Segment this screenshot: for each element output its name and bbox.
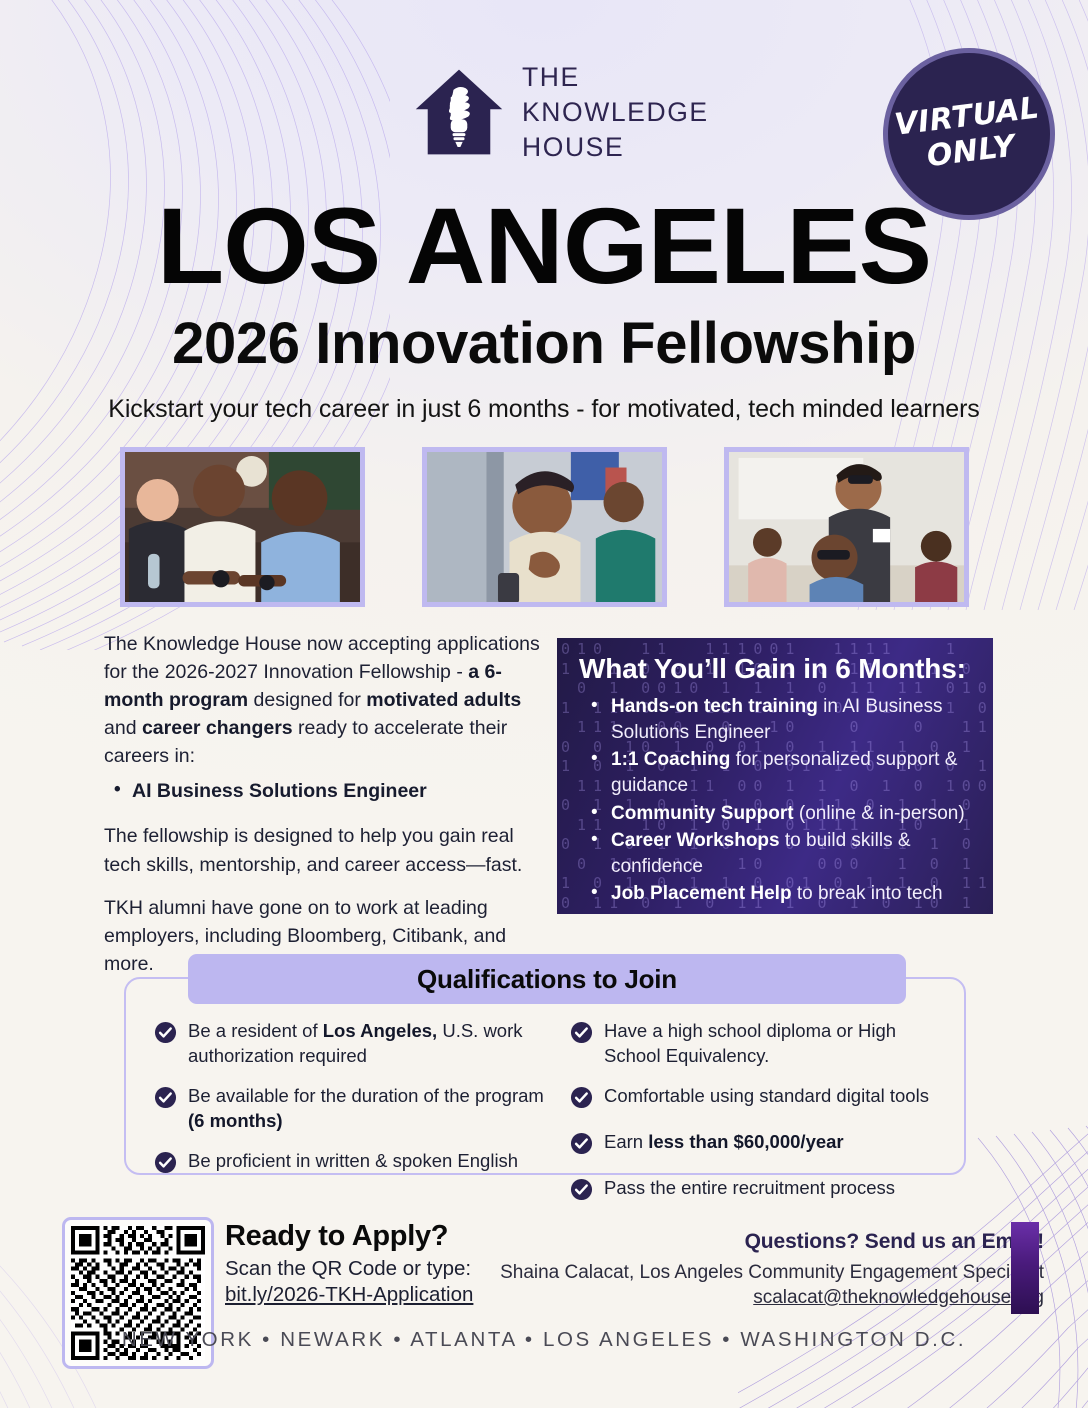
qualification-item: Pass the entire recruitment process [570, 1176, 946, 1206]
brand-line-2: KNOWLEDGE [522, 95, 709, 130]
qual-pre: Comfortable using standard digital tools [604, 1085, 929, 1106]
gain-list-item: Career Workshops to build skills & confi… [611, 828, 979, 879]
gain-item-bold: Job Placement Help [611, 883, 792, 904]
qual-pre: Be a resident of [188, 1020, 323, 1041]
gain-list-item: Hands-on tech training in AI Business So… [611, 694, 979, 745]
intro-p1e: and [104, 717, 142, 739]
qualification-item: Be proficient in written & spoken Englis… [154, 1149, 550, 1179]
what-youll-gain-box: 010 11 111001 1111 1 0000 1 110 0 1 1001… [557, 638, 993, 914]
gain-item-rest: (online & in-person) [794, 803, 965, 824]
photo-frame-3 [724, 447, 969, 607]
gain-content: What You’ll Gain in 6 Months: Hands-on t… [557, 638, 993, 907]
gain-item-bold: Career Workshops [611, 830, 780, 851]
intro-copy-column: The Knowledge House now accepting applic… [104, 630, 544, 993]
brand-line-3: HOUSE [522, 130, 709, 165]
gain-item-rest: to break into tech [792, 883, 943, 904]
poster-canvas: THE KNOWLEDGE HOUSE VIRTUAL ONLY LOS ANG… [0, 0, 1088, 1408]
house-lightbulb-logo-icon [413, 66, 505, 158]
gain-list-item: Community Support (online & in-person) [611, 801, 979, 827]
poster-footer: Ready to Apply? Scan the QR Code or type… [0, 1208, 1088, 1408]
purple-accent-bar [1011, 1222, 1039, 1314]
gain-item-bold: 1:1 Coaching [611, 749, 730, 770]
qual-pre: Have a high school diploma or High Schoo… [604, 1020, 896, 1066]
contact-person: Shaina Calacat, Los Angeles Community En… [424, 1262, 1044, 1284]
qual-bold: (6 months) [188, 1110, 283, 1131]
check-circle-icon [570, 1178, 593, 1206]
qualification-item: Be a resident of Los Angeles, U.S. work … [154, 1019, 550, 1068]
photo-smiling-attendee [427, 452, 662, 602]
qualification-text: Pass the entire recruitment process [604, 1176, 895, 1201]
qualifications-section: Qualifications to Join Be a resident of … [124, 977, 966, 1175]
tagline: Kickstart your tech career in just 6 mon… [0, 395, 1088, 424]
city-list: NEW YORK • NEWARK • ATLANTA • LOS ANGELE… [0, 1328, 1088, 1352]
role-list-item: AI Business Solutions Engineer [132, 777, 544, 805]
check-circle-icon [154, 1086, 177, 1114]
qualification-text: Comfortable using standard digital tools [604, 1084, 929, 1109]
qualifications-column-left: Be a resident of Los Angeles, U.S. work … [154, 1019, 550, 1222]
qual-bold: Los Angeles, [323, 1020, 437, 1041]
check-circle-icon [570, 1132, 593, 1160]
check-circle-icon [154, 1151, 177, 1179]
brand-line-1: THE [522, 60, 709, 95]
gain-list-item: 1:1 Coaching for personalized support & … [611, 747, 979, 798]
gain-title: What You’ll Gain in 6 Months: [579, 653, 979, 685]
intro-paragraph: The Knowledge House now accepting applic… [104, 630, 544, 770]
qual-pre: Earn [604, 1131, 648, 1152]
qualifications-title: Qualifications to Join [417, 964, 677, 995]
contact-block: Questions? Send us an Email! Shaina Cala… [424, 1230, 1044, 1309]
gain-list: Hands-on tech training in AI Business So… [579, 694, 979, 907]
program-title: 2026 Innovation Fellowship [0, 312, 1088, 377]
qual-pre: Be proficient in written & spoken Englis… [188, 1150, 518, 1171]
photo-frame-2 [422, 447, 667, 607]
qual-pre: Pass the entire recruitment process [604, 1177, 895, 1198]
qualification-item: Earn less than $60,000/year [570, 1130, 946, 1160]
brand-lockup: THE KNOWLEDGE HOUSE [413, 60, 709, 165]
photo-frame-1 [120, 447, 365, 607]
gain-item-bold: Community Support [611, 803, 794, 824]
title-block: LOS ANGELES 2026 Innovation Fellowship K… [0, 192, 1088, 424]
intro-p1d: motivated adults [366, 689, 521, 711]
photo-workshop-table [125, 452, 360, 602]
qualification-text: Earn less than $60,000/year [604, 1130, 844, 1155]
qual-pre: Be available for the duration of the pro… [188, 1085, 544, 1106]
check-circle-icon [570, 1086, 593, 1114]
poster-header: THE KNOWLEDGE HOUSE VIRTUAL ONLY [0, 52, 1088, 172]
check-circle-icon [570, 1021, 593, 1049]
body-columns: The Knowledge House now accepting applic… [0, 630, 1088, 930]
check-circle-icon [154, 1021, 177, 1049]
qualification-item: Be available for the duration of the pro… [154, 1084, 550, 1133]
contact-email-link[interactable]: scalacat@theknowledgehouse.org [424, 1287, 1044, 1309]
intro-p1c: designed for [248, 689, 366, 711]
qualification-item: Have a high school diploma or High Schoo… [570, 1019, 946, 1068]
qualifications-grid: Be a resident of Los Angeles, U.S. work … [126, 1019, 964, 1222]
qual-bold: less than $60,000/year [648, 1131, 843, 1152]
qualification-item: Comfortable using standard digital tools [570, 1084, 946, 1114]
qualification-text: Be available for the duration of the pro… [188, 1084, 550, 1133]
qualifications-column-right: Have a high school diploma or High Schoo… [550, 1019, 946, 1222]
qualification-text: Have a high school diploma or High Schoo… [604, 1019, 946, 1068]
gain-list-item: Job Placement Help to break into tech [611, 881, 979, 907]
qualification-text: Be proficient in written & spoken Englis… [188, 1149, 518, 1174]
qualifications-banner: Qualifications to Join [188, 954, 906, 1004]
gain-item-bold: Hands-on tech training [611, 696, 818, 717]
fellowship-paragraph: The fellowship is designed to help you g… [104, 822, 544, 878]
intro-p1f: career changers [142, 717, 293, 739]
city-title: LOS ANGELES [0, 192, 1088, 300]
photo-strip [0, 447, 1088, 607]
qualification-text: Be a resident of Los Angeles, U.S. work … [188, 1019, 550, 1068]
role-list: AI Business Solutions Engineer [104, 777, 544, 805]
photo-classroom-mentoring [729, 452, 964, 602]
brand-wordmark: THE KNOWLEDGE HOUSE [522, 60, 709, 165]
contact-title: Questions? Send us an Email! [424, 1230, 1044, 1254]
